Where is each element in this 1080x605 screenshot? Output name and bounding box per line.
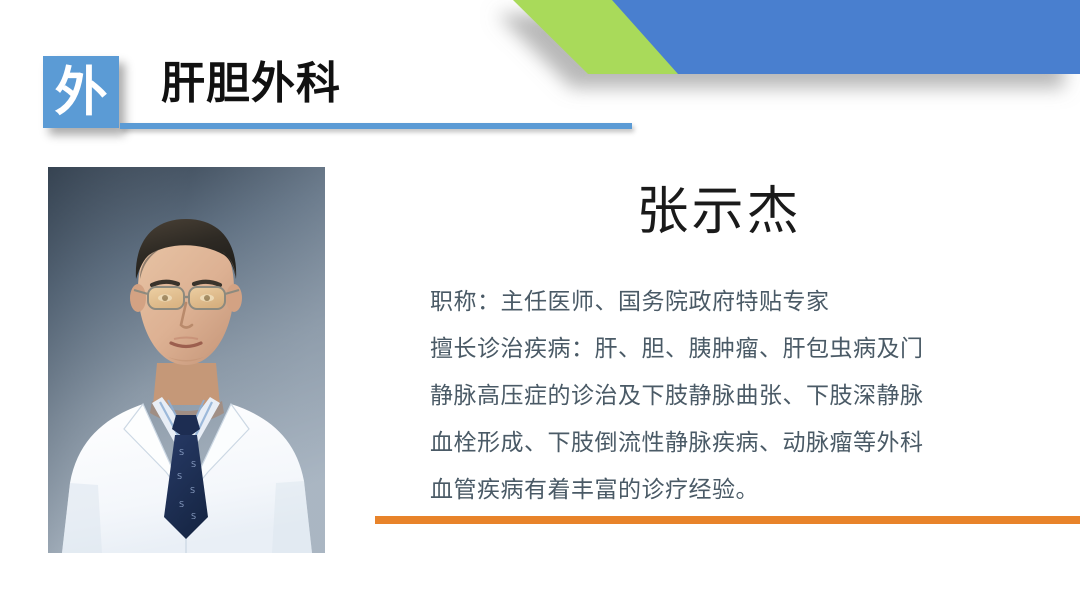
doctor-name: 张示杰 — [430, 183, 1008, 243]
bio-line: 血栓形成、下肢倒流性静脉疾病、动脉瘤等外科 — [430, 420, 1020, 467]
svg-text:S: S — [179, 448, 184, 457]
svg-text:S: S — [177, 472, 182, 481]
bio-line: 职称：主任医师、国务院政府特贴专家 — [430, 279, 1020, 326]
svg-text:S: S — [191, 460, 196, 469]
portrait-illustration: S S S S S S — [48, 167, 325, 553]
bio-line: 血管疾病有着丰富的诊疗经验。 — [430, 467, 1020, 514]
bio-line: 擅长诊治疾病：肝、胆、胰肿瘤、肝包虫病及门 — [430, 326, 1020, 373]
slide-canvas: 外 肝胆外科 — [0, 0, 1080, 605]
department-badge-char: 外 — [55, 66, 108, 119]
accent-divider — [375, 516, 1080, 524]
doctor-bio: 职称：主任医师、国务院政府特贴专家 擅长诊治疾病：肝、胆、胰肿瘤、肝包虫病及门 … — [430, 279, 1020, 514]
green-parallelogram-shape — [513, 0, 1080, 74]
page-title: 肝胆外科 — [161, 62, 341, 106]
bio-line: 静脉高压症的诊治及下肢静脉曲张、下肢深静脉 — [430, 373, 1020, 420]
svg-text:S: S — [191, 512, 196, 521]
svg-text:S: S — [179, 500, 184, 509]
department-badge: 外 — [43, 56, 119, 128]
doctor-portrait-photo: S S S S S S — [48, 167, 325, 553]
svg-text:S: S — [190, 486, 195, 495]
blue-corner-shape — [612, 0, 1080, 74]
header-divider — [120, 123, 632, 129]
